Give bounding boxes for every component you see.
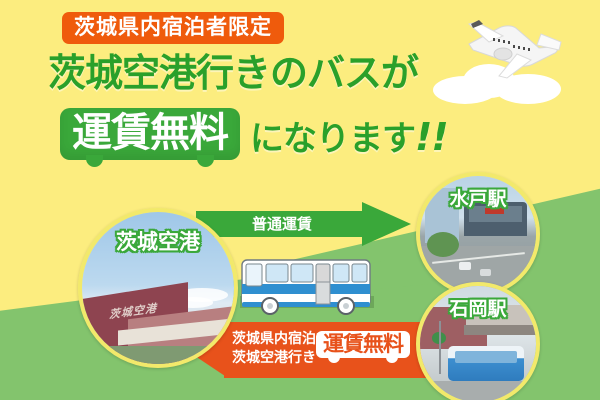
- headline-secondary-text: になります: [250, 119, 415, 159]
- fare-headline-row: 運賃無料 になります!!: [60, 108, 448, 160]
- limited-offer-badge: 茨城県内宿泊者限定: [62, 12, 284, 44]
- airplane-illustration: [425, 14, 575, 109]
- fare-free-label: 運賃無料: [60, 108, 240, 160]
- fare-free-box: 運賃無料: [60, 108, 240, 160]
- airplane-icon: [443, 14, 567, 86]
- station-circle-ishioka: 石岡駅: [416, 282, 540, 400]
- inbound-free-badge: 運賃無料: [316, 331, 410, 358]
- station-label-mito: 水戸駅: [420, 184, 536, 211]
- airport-circle-label: 茨城空港: [82, 226, 234, 256]
- station-label-ishioka: 石岡駅: [420, 294, 536, 321]
- headline-exclamation: !!: [415, 115, 448, 159]
- bus-icon: [236, 256, 378, 322]
- promotional-banner: 茨城県内宿泊者限定 茨城空港行きのバスが 運賃無料 になります!! 普通運賃: [0, 0, 600, 400]
- headline-secondary: になります!!: [250, 118, 448, 160]
- station-circle-mito: 水戸駅: [416, 172, 540, 296]
- airport-photo-circle: 茨城空港 茨城空港: [78, 208, 238, 368]
- headline-primary: 茨城空港行きのバスが: [48, 54, 418, 92]
- outbound-arrow-head: [362, 202, 411, 246]
